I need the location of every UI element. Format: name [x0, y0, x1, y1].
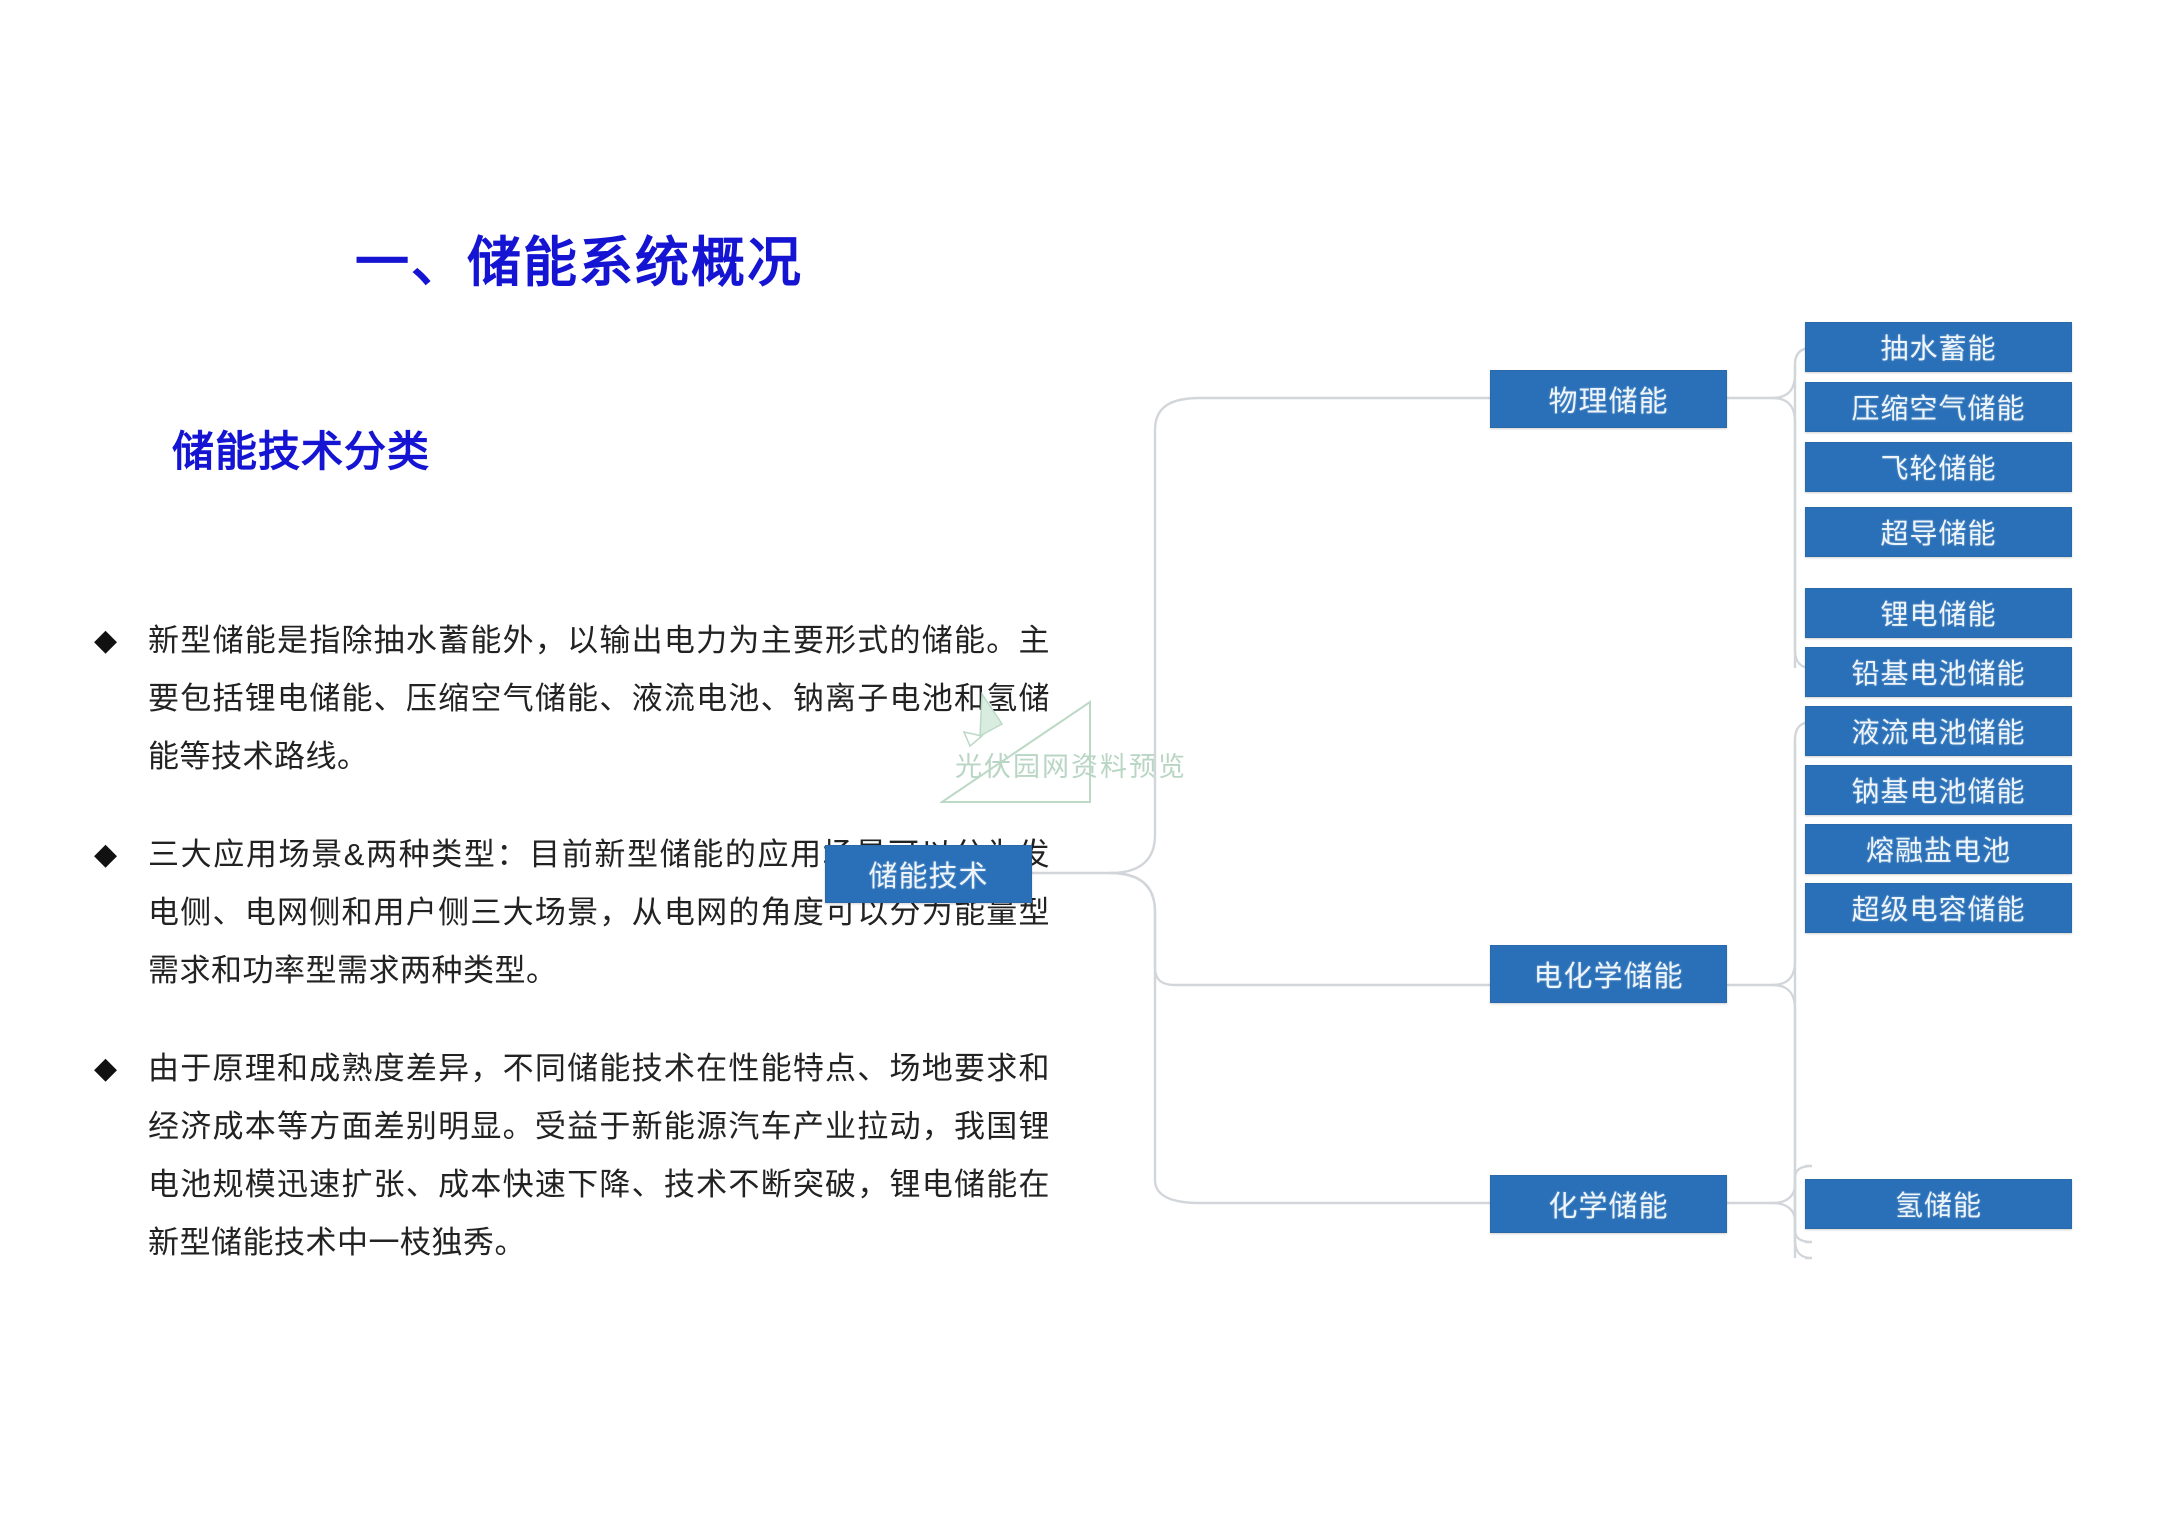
list-item-text: 由于原理和成熟度差异，不同储能技术在性能特点、场地要求和经济成本等方面差别明显。…	[148, 1040, 1050, 1272]
mindmap-leaf-node[interactable]: 超导储能	[1805, 507, 2072, 557]
mindmap-leaf-node[interactable]: 铅基电池储能	[1805, 647, 2072, 697]
mindmap-root-node[interactable]: 储能技术	[825, 845, 1032, 903]
diamond-bullet-icon: ◆	[90, 826, 148, 884]
sub-title: 储能技术分类	[172, 418, 430, 479]
mindmap-branch-physical[interactable]: 物理储能	[1490, 370, 1727, 428]
mindmap-leaf-node[interactable]: 压缩空气储能	[1805, 382, 2072, 432]
mindmap-leaf-node[interactable]: 飞轮储能	[1805, 442, 2072, 492]
mindmap-leaf-node[interactable]: 锂电储能	[1805, 588, 2072, 638]
mindmap-branch-electrochemical[interactable]: 电化学储能	[1490, 945, 1727, 1003]
page-title: 一、储能系统概况	[355, 218, 803, 297]
list-item-text: 新型储能是指除抽水蓄能外，以输出电力为主要形式的储能。主要包括锂电储能、压缩空气…	[148, 612, 1050, 786]
list-item: ◆ 由于原理和成熟度差异，不同储能技术在性能特点、场地要求和经济成本等方面差别明…	[90, 1040, 1050, 1272]
mindmap-leaf-node[interactable]: 液流电池储能	[1805, 706, 2072, 756]
diamond-bullet-icon: ◆	[90, 1040, 148, 1098]
mindmap-branch-chemical[interactable]: 化学储能	[1490, 1175, 1727, 1233]
mindmap-leaf-node[interactable]: 超级电容储能	[1805, 883, 2072, 933]
mindmap: 储能技术 物理储能 电化学储能 化学储能 抽水蓄能 压缩空气储能 飞轮储能 超导…	[1100, 340, 2160, 1360]
diamond-bullet-icon: ◆	[90, 612, 148, 670]
mindmap-leaf-node[interactable]: 氢储能	[1805, 1179, 2072, 1229]
mindmap-leaf-node[interactable]: 熔融盐电池	[1805, 824, 2072, 874]
bullet-list: ◆ 新型储能是指除抽水蓄能外，以输出电力为主要形式的储能。主要包括锂电储能、压缩…	[90, 612, 1050, 1312]
slide-canvas: 一、储能系统概况 储能技术分类 ◆ 新型储能是指除抽水蓄能外，以输出电力为主要形…	[0, 0, 2160, 1529]
mindmap-leaf-node[interactable]: 抽水蓄能	[1805, 322, 2072, 372]
list-item: ◆ 新型储能是指除抽水蓄能外，以输出电力为主要形式的储能。主要包括锂电储能、压缩…	[90, 612, 1050, 786]
mindmap-leaf-node[interactable]: 钠基电池储能	[1805, 765, 2072, 815]
